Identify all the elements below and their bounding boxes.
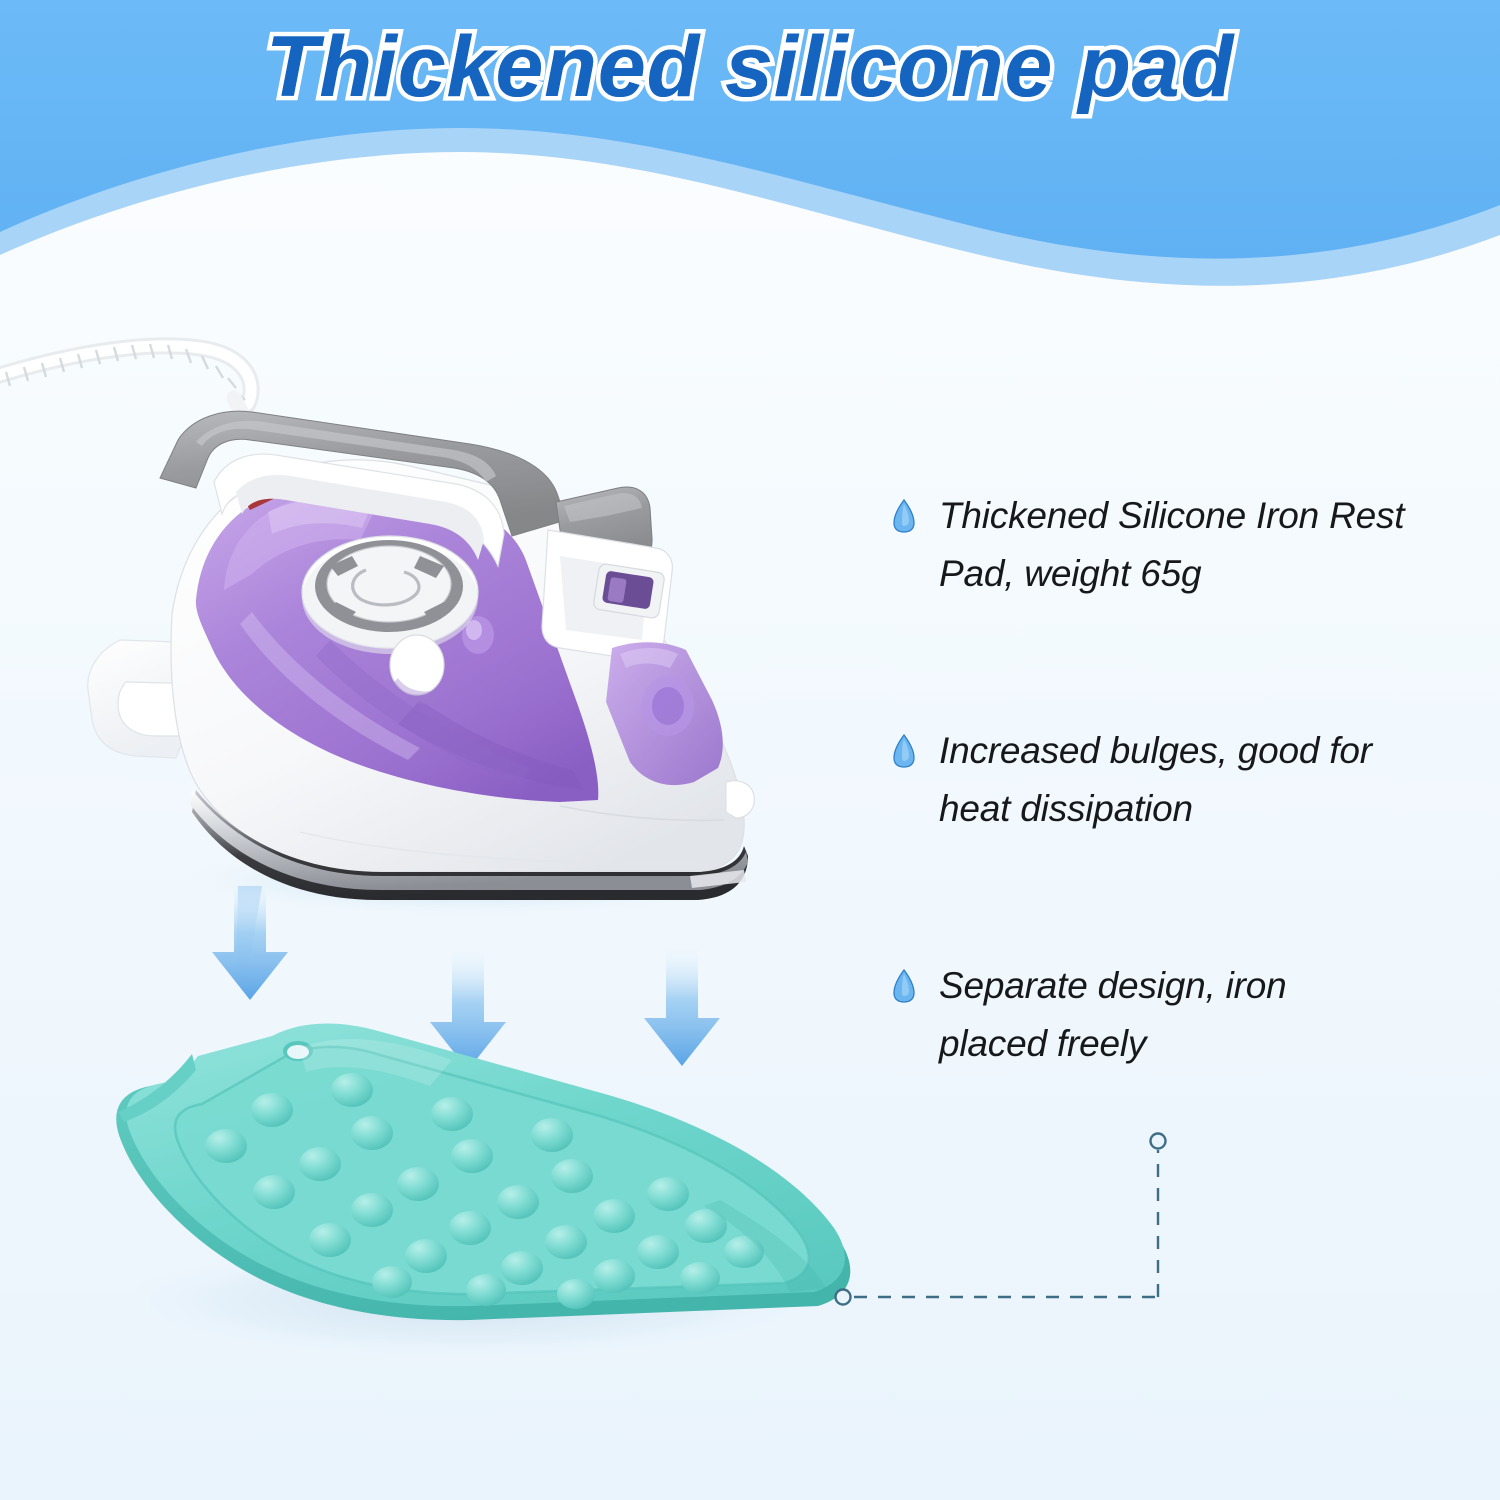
iron-main-shell (171, 460, 744, 872)
dimension-callout (854, 1150, 1158, 1297)
feature-text-line2: Pad, weight 65g (939, 553, 1201, 594)
down-arrow-2 (430, 952, 506, 1070)
iron-water-tank (196, 483, 598, 802)
indicator-light-gloss (242, 474, 280, 502)
feature-text-line2: placed freely (939, 1023, 1146, 1064)
feature-text: Separate design, iron placed freely (939, 957, 1287, 1074)
dimension-endpoint-top (1151, 1134, 1166, 1149)
feature-text: Increased bulges, good for heat dissipat… (939, 722, 1372, 839)
spray-window (606, 642, 723, 785)
feature-text: Thickened Silicone Iron Rest Pad, weight… (939, 487, 1404, 604)
handle-highlight (196, 421, 496, 482)
page-title: Thickened silicone pad (0, 18, 1500, 117)
pad-hanging-hole-inner (287, 1045, 309, 1059)
dial-notch-4 (424, 602, 450, 622)
pad-inner-plate (175, 1047, 809, 1294)
down-arrow-3 (644, 950, 720, 1066)
dial-face (327, 546, 451, 622)
iron-body-seam-2 (300, 832, 700, 863)
pad-bumps (205, 1073, 764, 1309)
iron-pad-drop-icon (893, 499, 915, 533)
feature-list: Thickened Silicone Iron Rest Pad, weight… (893, 487, 1493, 1074)
feature-text-line1: Separate design, iron (939, 965, 1287, 1006)
spray-nozzle-inner (652, 687, 684, 725)
iron-handle (160, 411, 566, 536)
spray-nozzle (642, 676, 694, 736)
dial-notch-2 (414, 556, 444, 578)
tank-fold-1 (316, 640, 530, 786)
pad-surface (120, 1023, 845, 1306)
iron-rear-pillar (542, 530, 672, 660)
down-arrow-1 (212, 884, 288, 1000)
feature-text-line1: Increased bulges, good for (939, 730, 1372, 771)
feature-text-line1: Thickened Silicone Iron Rest (939, 495, 1404, 536)
feature-item: Increased bulges, good for heat dissipat… (893, 722, 1493, 839)
iron-body-seam (560, 806, 724, 820)
steam-slider-knob (602, 570, 654, 609)
spray-window-gloss (620, 648, 678, 668)
iron-heel-plate (118, 682, 208, 736)
iron-soleplate (192, 790, 748, 900)
power-cord (0, 344, 256, 432)
soleplate-tip-shine (690, 870, 746, 888)
tank-cap-nub (462, 616, 494, 654)
front-nub (726, 781, 754, 818)
product-infographic: Thickened silicone pad Thickened silicon… (0, 0, 1500, 1500)
tank-cap-nub-hl (466, 620, 482, 640)
indicator-light (236, 470, 288, 510)
iron-pad-drop-icon (893, 734, 915, 768)
dial-notch-1 (330, 556, 358, 576)
dial-notch-3 (328, 602, 356, 620)
handle-arch-inner (214, 454, 504, 566)
iron-shadow (180, 844, 760, 916)
steam-wisp (236, 886, 262, 984)
iron-rear-shell (88, 640, 200, 758)
pad-rim (116, 1031, 850, 1320)
pad-tip-shade (704, 1200, 826, 1292)
handle-arch-shade (236, 475, 484, 560)
spray-button-shadow (394, 678, 438, 704)
dial-base (302, 536, 478, 648)
rear-pillar-shade (560, 556, 648, 640)
pad-sheen (300, 1039, 452, 1086)
spray-button (390, 635, 444, 695)
spray-button-hl (396, 641, 426, 675)
pad-side-tab (118, 1054, 196, 1122)
handle-rear-cap-hl (564, 493, 642, 522)
dial-marker (353, 570, 419, 605)
handle-rear-cap (556, 487, 652, 572)
feature-text-line2: heat dissipation (939, 788, 1193, 829)
tank-sheen (240, 612, 420, 760)
dimension-endpoint-left (836, 1290, 851, 1305)
pad-shadow (110, 1242, 830, 1358)
tank-highlight-1 (224, 495, 380, 590)
feature-item: Thickened Silicone Iron Rest Pad, weight… (893, 487, 1493, 604)
dial-ring (315, 540, 463, 632)
soleplate-chrome-edge (190, 790, 748, 890)
steam-slider-housing (593, 563, 665, 619)
pad-inner-plate-rim (175, 1047, 809, 1294)
steam-slider-knob-hl (607, 577, 627, 603)
feature-item: Separate design, iron placed freely (893, 957, 1493, 1074)
iron-pad-drop-icon (893, 969, 915, 1003)
tank-shadow-1 (398, 700, 584, 790)
dial-base-shade (302, 542, 478, 654)
tank-highlight-2 (268, 499, 372, 534)
pad-hanging-hole (283, 1041, 313, 1061)
header-banner: Thickened silicone pad Thickened silicon… (0, 0, 1500, 290)
